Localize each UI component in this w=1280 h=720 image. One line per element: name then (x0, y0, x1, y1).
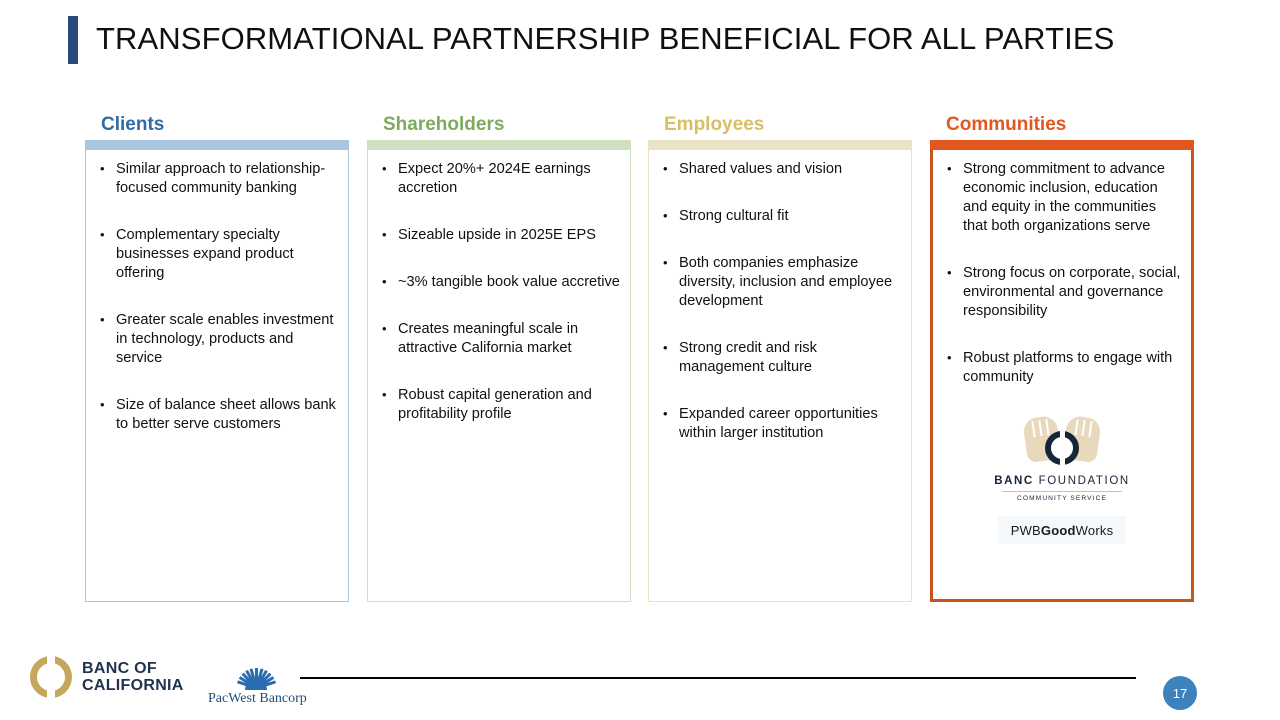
banc-foundation-name-rest: FOUNDATION (1034, 475, 1130, 487)
column-topbar-shareholders (367, 140, 631, 150)
column-heading-clients: Clients (85, 112, 349, 140)
list-item: Creates meaningful scale in attractive C… (376, 320, 622, 358)
community-logos: BANC FOUNDATION COMMUNITY SERVICE PWB Go… (941, 415, 1183, 544)
list-item: Strong credit and risk management cultur… (657, 339, 903, 377)
pwb-bold: Good (1041, 523, 1076, 538)
column-heading-employees: Employees (648, 112, 912, 140)
slide-header: TRANSFORMATIONAL PARTNERSHIP BENEFICIAL … (0, 0, 1280, 92)
list-item: Shared values and vision (657, 160, 903, 179)
column-body-employees: Shared values and vision Strong cultural… (648, 150, 912, 602)
column-shareholders: Shareholders Expect 20%+ 2024E earnings … (367, 112, 631, 602)
pacwest-burst-icon (208, 654, 304, 690)
list-item: Both companies emphasize diversity, incl… (657, 254, 903, 311)
pwb-goodworks-logo: PWB GoodWorks (998, 516, 1126, 544)
column-body-communities: Strong commitment to advance economic in… (930, 150, 1194, 602)
column-topbar-communities (930, 140, 1194, 150)
bullet-list-employees: Shared values and vision Strong cultural… (657, 160, 903, 443)
pacwest-wordmark: PacWest Bancorp (208, 691, 304, 707)
list-item: Complementary specialty businesses expan… (94, 226, 340, 283)
banc-of-california-ring-icon (30, 656, 72, 698)
column-communities: Communities Strong commitment to advance… (930, 112, 1194, 602)
list-item: Strong commitment to advance economic in… (941, 160, 1183, 236)
pwb-suffix: Works (1076, 523, 1114, 538)
column-employees: Employees Shared values and vision Stron… (648, 112, 912, 602)
divider (1002, 491, 1122, 492)
list-item: Size of balance sheet allows bank to bet… (94, 396, 340, 434)
column-body-clients: Similar approach to relationship-focused… (85, 150, 349, 602)
list-item: Greater scale enables investment in tech… (94, 311, 340, 368)
pwb-prefix: PWB (1011, 523, 1041, 538)
slide-footer: BANC OF CALIFORNIA PacWest Bancorp (0, 648, 1280, 720)
footer-divider (300, 677, 1136, 679)
banc-foundation-subtitle: COMMUNITY SERVICE (941, 495, 1183, 502)
pacwest-bancorp-logo: PacWest Bancorp (208, 654, 304, 707)
bullet-list-communities: Strong commitment to advance economic in… (941, 160, 1183, 387)
page-title: TRANSFORMATIONAL PARTNERSHIP BENEFICIAL … (96, 21, 1114, 57)
list-item: Robust platforms to engage with communit… (941, 349, 1183, 387)
columns-container: Clients Similar approach to relationship… (85, 112, 1197, 612)
column-heading-shareholders: Shareholders (367, 112, 631, 140)
banc-foundation-wordmark: BANC FOUNDATION (941, 475, 1183, 487)
boc-line-1: BANC OF (82, 660, 184, 677)
banc-of-california-wordmark: BANC OF CALIFORNIA (82, 660, 184, 694)
banc-foundation-name-bold: BANC (994, 475, 1034, 487)
list-item: Expanded career opportunities within lar… (657, 405, 903, 443)
list-item: ~3% tangible book value accretive (376, 273, 622, 292)
page-number-badge: 17 (1163, 676, 1197, 710)
list-item: Sizeable upside in 2025E EPS (376, 226, 622, 245)
boc-line-2: CALIFORNIA (82, 677, 184, 694)
list-item: Similar approach to relationship-focused… (94, 160, 340, 198)
banc-of-california-logo: BANC OF CALIFORNIA (30, 656, 184, 698)
bullet-list-shareholders: Expect 20%+ 2024E earnings accretion Siz… (376, 160, 622, 424)
title-accent-bar (68, 16, 78, 64)
column-topbar-employees (648, 140, 912, 150)
list-item: Robust capital generation and profitabil… (376, 386, 622, 424)
bullet-list-clients: Similar approach to relationship-focused… (94, 160, 340, 434)
banc-foundation-hands-icon (1019, 415, 1105, 469)
list-item: Strong cultural fit (657, 207, 903, 226)
column-topbar-clients (85, 140, 349, 150)
column-body-shareholders: Expect 20%+ 2024E earnings accretion Siz… (367, 150, 631, 602)
column-heading-communities: Communities (930, 112, 1194, 140)
list-item: Strong focus on corporate, social, envir… (941, 264, 1183, 321)
list-item: Expect 20%+ 2024E earnings accretion (376, 160, 622, 198)
column-clients: Clients Similar approach to relationship… (85, 112, 349, 602)
banc-ring-icon (1045, 431, 1079, 465)
